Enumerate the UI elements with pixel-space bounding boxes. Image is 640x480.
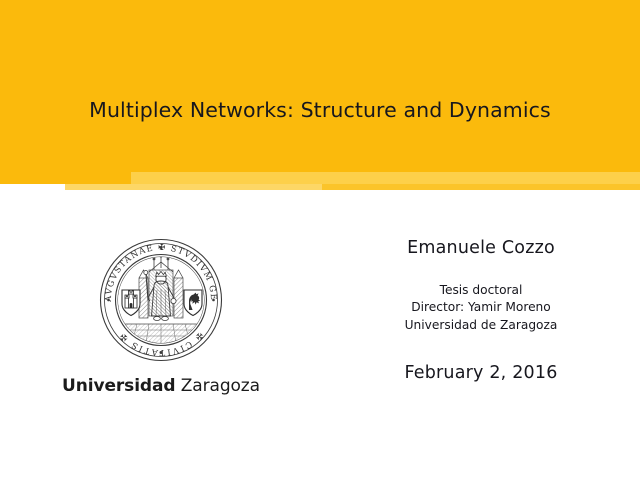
author-name: Emanuele Cozzo: [322, 238, 640, 258]
thesis-director: Director: Yamir Moreno: [322, 299, 640, 316]
presentation-date: February 2, 2016: [322, 363, 640, 383]
wordmark-light: Zaragoza: [181, 376, 260, 396]
thesis-institution: Universidad de Zaragoza: [322, 317, 640, 334]
author-info-block: Emanuele Cozzo Tesis doctoral Director: …: [322, 238, 640, 383]
university-seal-icon: CAESARAVGVSTANAE ✠ STVDIVM GENERALE ✠ CI…: [99, 238, 223, 362]
university-logo-block: CAESARAVGVSTANAE ✠ STVDIVM GENERALE ✠ CI…: [22, 238, 300, 396]
divider-bar-upper-left: [0, 172, 131, 184]
wordmark-bold: Universidad: [62, 376, 175, 396]
divider-bar-upper-right: [131, 172, 640, 184]
lion-shield: [184, 290, 202, 316]
castle-shield: [122, 290, 140, 316]
thesis-details: Tesis doctoral Director: Yamir Moreno Un…: [322, 282, 640, 334]
university-wordmark: Universidad Zaragoza: [22, 376, 300, 396]
thesis-type: Tesis doctoral: [322, 282, 640, 299]
title-header-band: [0, 0, 640, 172]
page-title: Multiplex Networks: Structure and Dynami…: [0, 98, 640, 122]
slide-body: CAESARAVGVSTANAE ✠ STVDIVM GENERALE ✠ CI…: [0, 190, 640, 480]
title-slide: Multiplex Networks: Structure and Dynami…: [0, 0, 640, 480]
